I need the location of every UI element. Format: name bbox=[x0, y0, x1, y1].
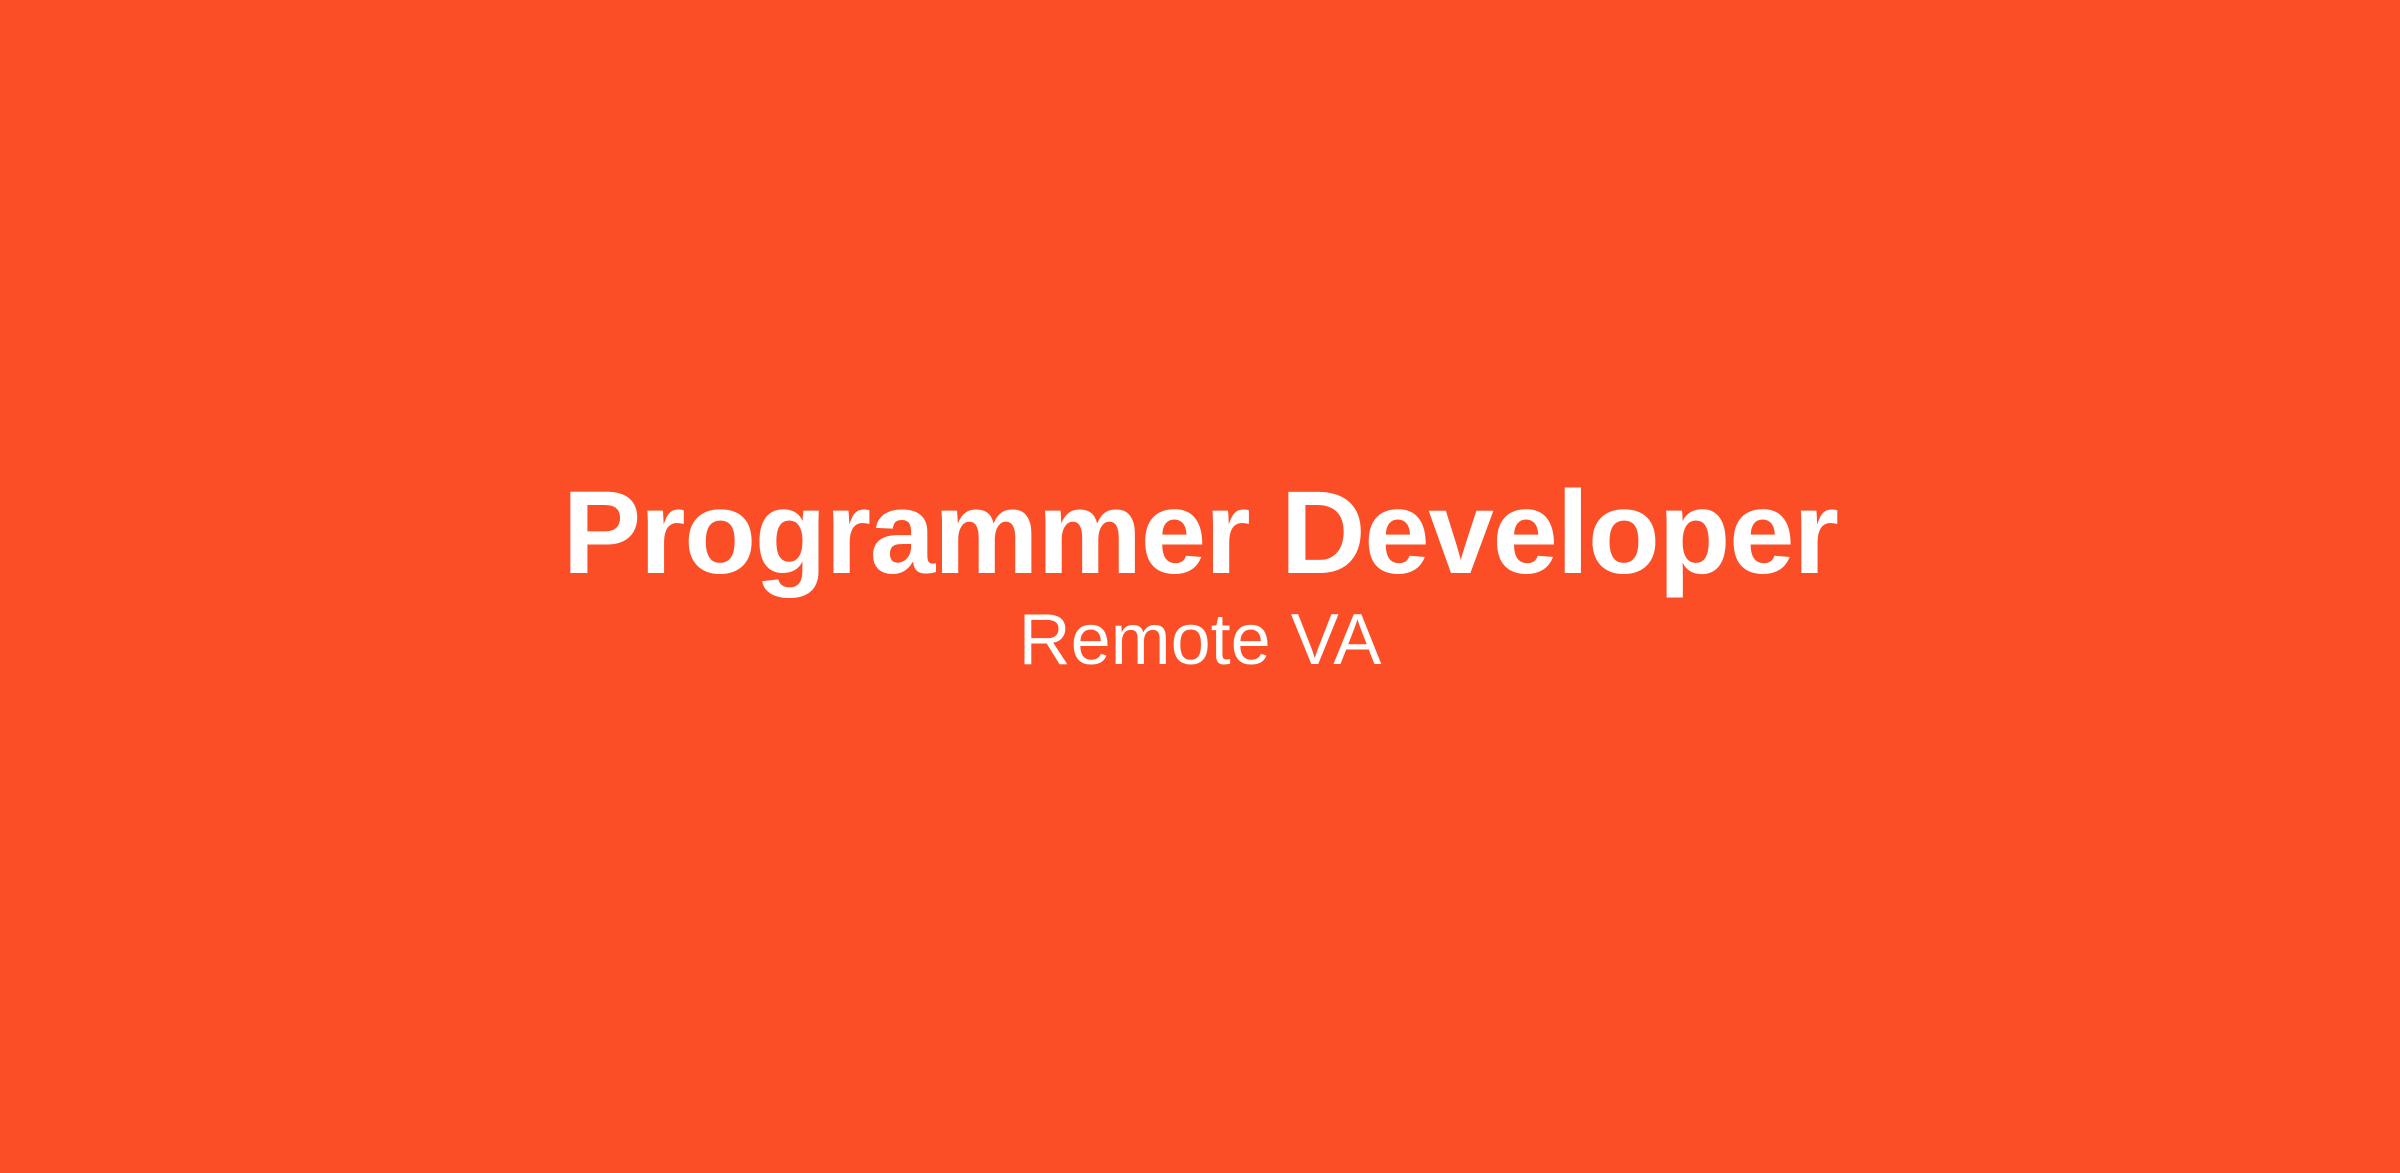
job-title: Programmer Developer bbox=[562, 474, 1837, 592]
job-card: Programmer Developer Remote VA bbox=[0, 0, 2400, 1173]
job-card-text-block: Programmer Developer Remote VA bbox=[0, 474, 2400, 676]
job-location-subtitle: Remote VA bbox=[1019, 604, 1382, 676]
